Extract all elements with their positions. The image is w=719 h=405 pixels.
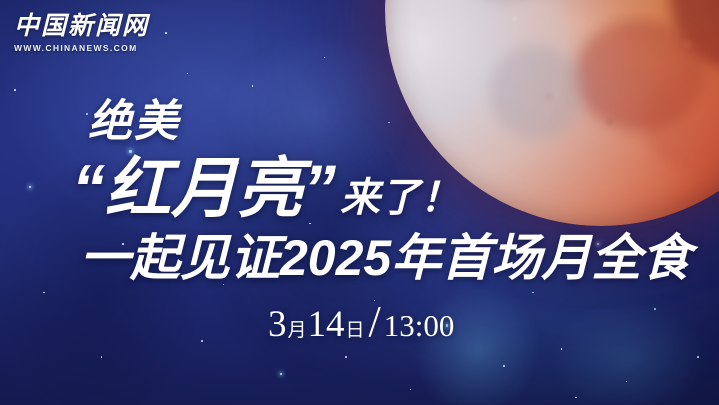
event-dateline: 3 月 14 日 / 13:00 [268, 300, 454, 344]
headline-line-3: 一起见证2025年首场月全食 [80, 233, 691, 283]
dateline-time: 13:00 [384, 310, 455, 341]
headline-line-2-tail: 来了！ [340, 178, 460, 218]
headline-line-2: “ 红月亮 ” 来了！ [72, 155, 460, 221]
headline-subject: 红月亮 [105, 155, 303, 221]
quote-close: ” [303, 155, 336, 221]
dateline-month-unit: 月 [288, 321, 307, 340]
headline-block: 绝美 “ 红月亮 ” 来了！ 一起见证2025年首场月全食 3 月 14 日 /… [0, 0, 719, 405]
quote-open: “ [72, 155, 105, 221]
dateline-separator: / [369, 300, 381, 344]
headline-line-1: 绝美 [88, 100, 180, 144]
dateline-month-number: 3 [268, 306, 287, 343]
dateline-day-unit: 日 [346, 321, 365, 340]
poster-canvas: 中国新闻网 WWW.CHINANEWS.COM 绝美 “ 红月亮 ” 来了！ 一… [0, 0, 719, 405]
dateline-day-number: 14 [308, 306, 345, 343]
